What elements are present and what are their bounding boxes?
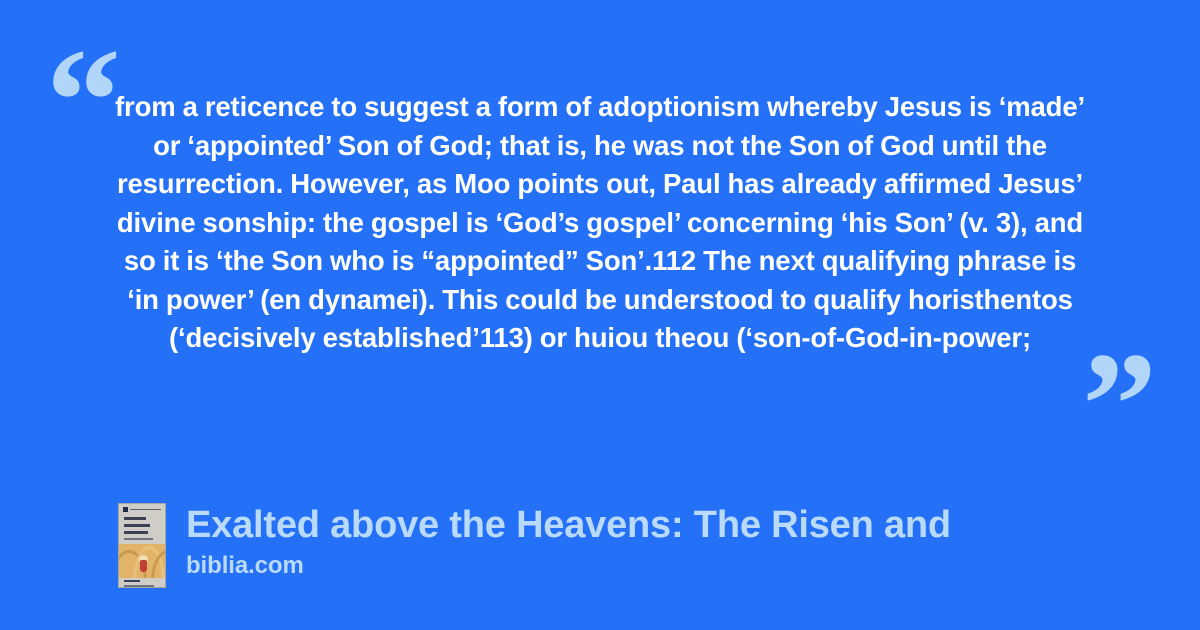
site-name[interactable]: biblia.com [186, 551, 951, 581]
quote-text: from a reticence to suggest a form of ad… [105, 88, 1095, 358]
quote-card: “ from a reticence to suggest a form of … [0, 0, 1200, 630]
cover-publisher-line [124, 585, 154, 587]
cover-series-rule [130, 509, 161, 510]
book-title: Exalted above the Heavens: The Risen and [186, 503, 951, 547]
attribution-footer: Exalted above the Heavens: The Risen and… [118, 503, 951, 588]
quote-block: from a reticence to suggest a form of ad… [105, 88, 1095, 358]
book-cover-thumbnail [118, 503, 166, 588]
cover-chalice-shape [140, 560, 147, 572]
closing-quote-icon: ” [1082, 330, 1157, 480]
cover-subtitle-line [124, 538, 153, 540]
cover-title-lines [124, 517, 160, 540]
cover-artwork [119, 544, 165, 578]
cover-series-mark [123, 507, 128, 512]
cover-lower-panel [119, 578, 165, 587]
cover-title-line [124, 524, 150, 527]
cover-author-line [124, 580, 140, 582]
cover-title-line [124, 517, 146, 520]
cover-series-bar [123, 507, 161, 512]
footer-text-group: Exalted above the Heavens: The Risen and… [186, 503, 951, 581]
cover-title-line [124, 531, 148, 534]
